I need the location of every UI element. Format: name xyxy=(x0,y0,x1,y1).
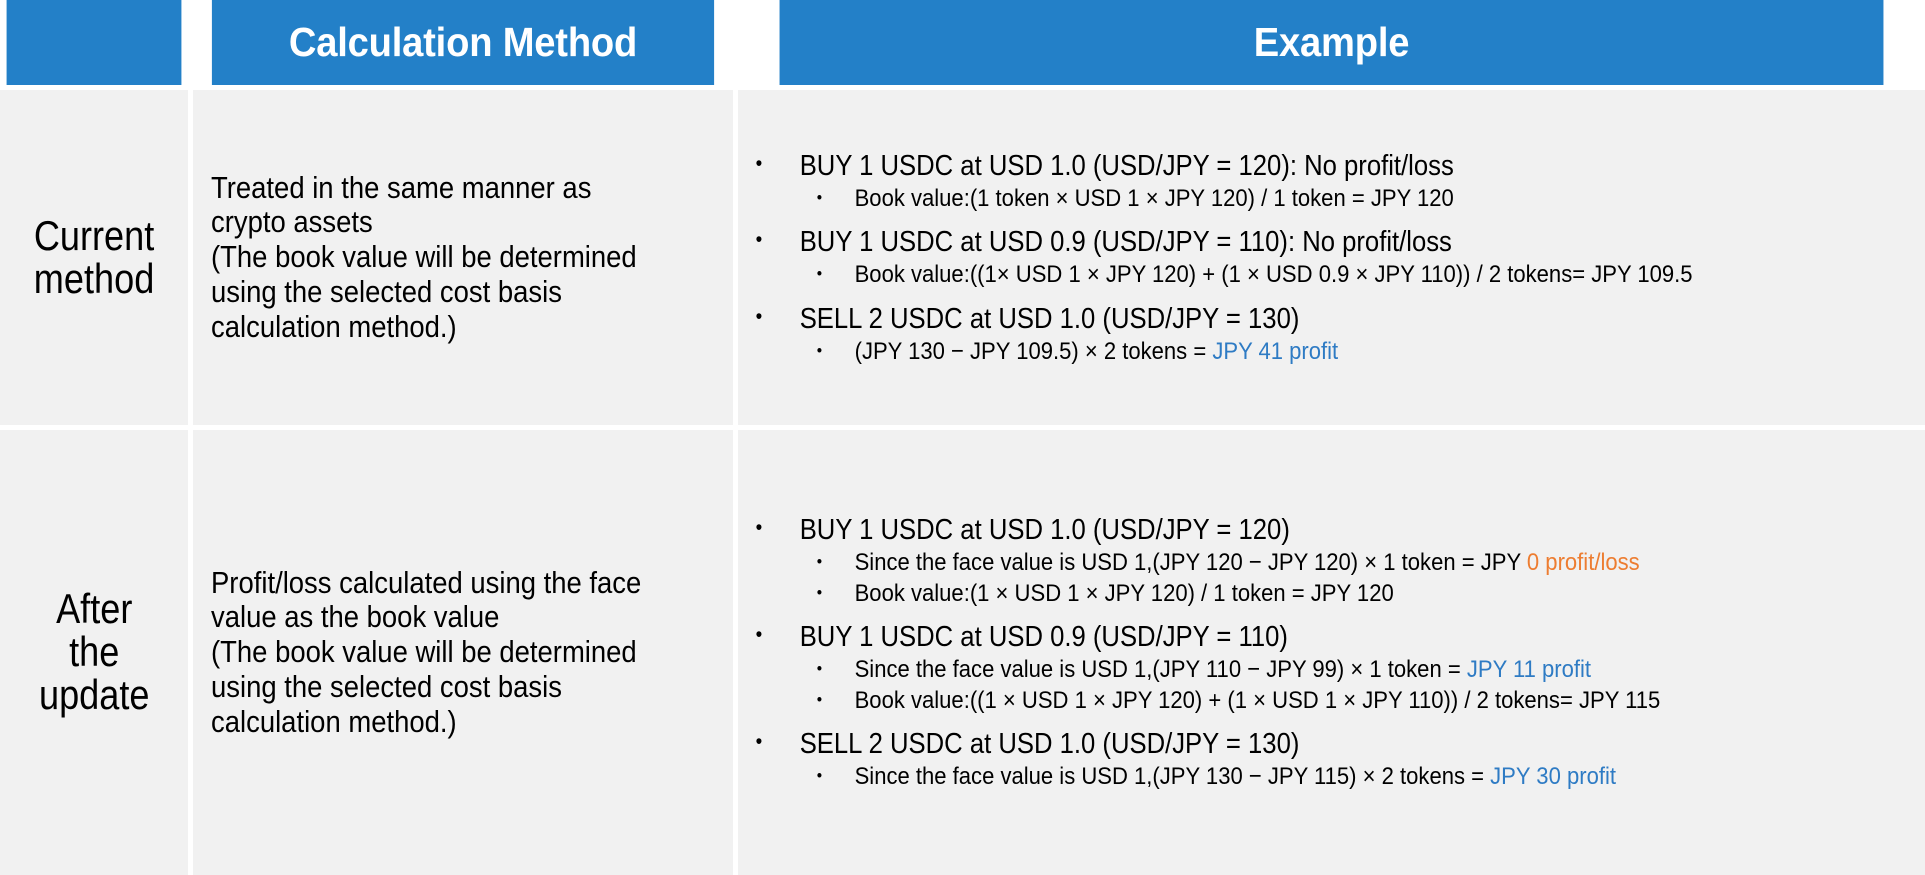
table-body: Current method Treated in the same manne… xyxy=(0,85,1925,875)
table-row-after-update: After the update Profit/loss calculated … xyxy=(0,430,1925,875)
bullet-secondary: Since the face value is USD 1,(JPY 130 −… xyxy=(752,762,1914,791)
highlight-value: JPY 11 profit xyxy=(1467,656,1591,683)
header-cell-example: Example xyxy=(780,0,1884,85)
bullet-primary: BUY 1 USDC at USD 1.0 (USD/JPY = 120): N… xyxy=(752,149,1914,183)
table-header-row: Calculation Method Example xyxy=(0,0,1925,85)
header-cell-spacer xyxy=(7,0,182,85)
bullet-primary: BUY 1 USDC at USD 1.0 (USD/JPY = 120) xyxy=(752,513,1914,547)
bullet-group: BUY 1 USDC at USD 0.9 (USD/JPY = 110): N… xyxy=(752,225,1915,290)
row-label-after-update: After the update xyxy=(39,588,149,716)
method-cell-after-update: Profit/loss calculated using the face va… xyxy=(193,430,733,875)
bullet-secondary: Book value:((1 × USD 1 × JPY 120) + (1 ×… xyxy=(752,686,1914,715)
bullet-secondary: Book value:(1 token × USD 1 × JPY 120) /… xyxy=(752,184,1914,213)
highlight-value: JPY 41 profit xyxy=(1212,338,1338,365)
bullet-secondary: Since the face value is USD 1,(JPY 120 −… xyxy=(752,548,1914,577)
bullet-text-pre: Since the face value is USD 1,(JPY 120 −… xyxy=(855,549,1527,576)
highlight-value: JPY 30 profit xyxy=(1490,763,1616,790)
bullet-group: SELL 2 USDC at USD 1.0 (USD/JPY = 130) (… xyxy=(752,302,1915,367)
bullet-primary: SELL 2 USDC at USD 1.0 (USD/JPY = 130) xyxy=(752,302,1914,336)
highlight-value: 0 profit/loss xyxy=(1527,549,1640,576)
bullet-group: BUY 1 USDC at USD 1.0 (USD/JPY = 120): N… xyxy=(752,149,1915,214)
bullet-primary: BUY 1 USDC at USD 0.9 (USD/JPY = 110) xyxy=(752,620,1914,654)
bullet-group: SELL 2 USDC at USD 1.0 (USD/JPY = 130) S… xyxy=(752,727,1915,792)
bullet-secondary: (JPY 130 − JPY 109.5) × 2 tokens = JPY 4… xyxy=(752,337,1914,366)
bullet-text-pre: Book value:(1 token × USD 1 × JPY 120) /… xyxy=(855,185,1454,212)
bullet-text-pre: Book value:((1× USD 1 × JPY 120) + (1 × … xyxy=(855,261,1693,288)
bullet-text-pre: Since the face value is USD 1,(JPY 110 −… xyxy=(855,656,1467,683)
method-cell-current-method: Treated in the same manner as crypto ass… xyxy=(193,90,733,425)
bullet-primary: SELL 2 USDC at USD 1.0 (USD/JPY = 130) xyxy=(752,727,1914,761)
bullet-secondary: Since the face value is USD 1,(JPY 110 −… xyxy=(752,655,1914,684)
header-cell-calculation-method: Calculation Method xyxy=(212,0,714,85)
example-cell-after-update: BUY 1 USDC at USD 1.0 (USD/JPY = 120) Si… xyxy=(738,430,1925,875)
bullet-group: BUY 1 USDC at USD 0.9 (USD/JPY = 110) Si… xyxy=(752,620,1915,715)
method-description-current: Treated in the same manner as crypto ass… xyxy=(211,171,668,345)
bullet-text-pre: Book value:((1 × USD 1 × JPY 120) + (1 ×… xyxy=(855,687,1661,714)
bullet-primary: BUY 1 USDC at USD 0.9 (USD/JPY = 110): N… xyxy=(752,225,1914,259)
bullet-group: BUY 1 USDC at USD 1.0 (USD/JPY = 120) Si… xyxy=(752,513,1915,608)
comparison-table: Calculation Method Example Current metho… xyxy=(0,0,1925,875)
bullet-text-pre: Book value:(1 × USD 1 × JPY 120) / 1 tok… xyxy=(855,580,1394,607)
row-label-current-method: Current method xyxy=(34,215,154,301)
bullet-text-pre: Since the face value is USD 1,(JPY 130 −… xyxy=(855,763,1491,790)
row-label-cell-after-update: After the update xyxy=(0,430,188,875)
row-label-cell-current-method: Current method xyxy=(0,90,188,425)
table-row-current-method: Current method Treated in the same manne… xyxy=(0,90,1925,425)
method-description-after-update: Profit/loss calculated using the face va… xyxy=(211,566,668,740)
bullet-text-pre: (JPY 130 − JPY 109.5) × 2 tokens = xyxy=(855,338,1213,365)
example-cell-current-method: BUY 1 USDC at USD 1.0 (USD/JPY = 120): N… xyxy=(738,90,1925,425)
bullet-secondary: Book value:((1× USD 1 × JPY 120) + (1 × … xyxy=(752,260,1914,289)
bullet-secondary: Book value:(1 × USD 1 × JPY 120) / 1 tok… xyxy=(752,579,1914,608)
